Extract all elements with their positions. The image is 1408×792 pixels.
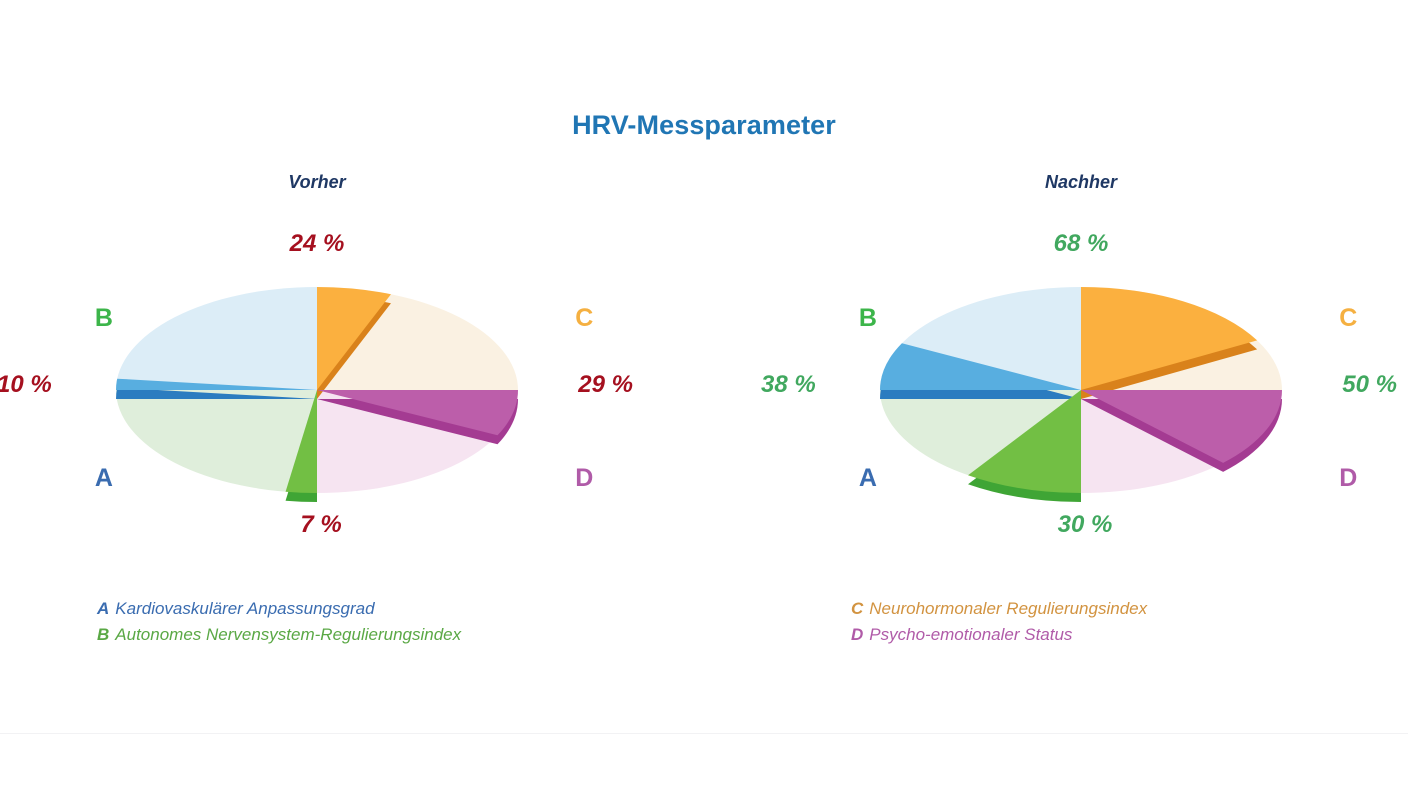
value-label-A: 30 % bbox=[1058, 511, 1113, 538]
legend-key-c: C bbox=[851, 599, 863, 618]
value-label-C: 24 % bbox=[289, 230, 345, 257]
quadrant-letter-A: A bbox=[95, 464, 113, 492]
quadrant-letter-C: C bbox=[575, 304, 593, 332]
legend-item-c: CNeurohormonaler Regulierungsindex bbox=[851, 596, 1147, 622]
legend-item-d: DPsycho-emotionaler Status bbox=[851, 622, 1147, 648]
legend-label-d: Psycho-emotionaler Status bbox=[869, 625, 1072, 644]
chart-panel-nachher: Nachher CDAB68 %50 %30 %38 % bbox=[801, 160, 1361, 580]
quadrant-letter-D: D bbox=[575, 464, 593, 492]
quadrant-letter-B: B bbox=[95, 304, 113, 332]
value-label-B: 38 % bbox=[761, 371, 816, 398]
value-label-A: 7 % bbox=[300, 511, 341, 538]
value-label-B: 10 % bbox=[0, 371, 52, 398]
chart-panel-vorher: Vorher CDAB24 %29 %7 %10 % bbox=[37, 160, 597, 580]
quadrant-letter-A: A bbox=[859, 464, 877, 492]
legend-key-b: B bbox=[97, 625, 109, 644]
footer-divider bbox=[0, 733, 1408, 734]
legend-key-a: A bbox=[97, 599, 109, 618]
quadrant-letter-B: B bbox=[859, 304, 877, 332]
legend-key-d: D bbox=[851, 625, 863, 644]
pie-chart-vorher: CDAB24 %29 %7 %10 % bbox=[37, 160, 597, 580]
value-label-D: 50 % bbox=[1342, 371, 1397, 398]
quadrant-letter-D: D bbox=[1339, 464, 1357, 492]
quadrant-background-A bbox=[116, 287, 317, 390]
legend-right: CNeurohormonaler Regulierungsindex DPsyc… bbox=[851, 596, 1147, 648]
value-label-C: 68 % bbox=[1054, 230, 1109, 257]
legend-left: AKardiovaskulärer Anpassungsgrad BAutono… bbox=[97, 596, 461, 648]
page-title: HRV-Messparameter bbox=[0, 110, 1408, 141]
legend-label-c: Neurohormonaler Regulierungsindex bbox=[869, 599, 1147, 618]
legend-label-a: Kardiovaskulärer Anpassungsgrad bbox=[115, 599, 374, 618]
quadrant-letter-C: C bbox=[1339, 304, 1357, 332]
value-label-D: 29 % bbox=[577, 371, 633, 398]
legend-label-b: Autonomes Nervensystem-Regulierungsindex bbox=[115, 625, 461, 644]
slide-root: HRV-Messparameter Vorher CDAB24 %29 %7 %… bbox=[0, 0, 1408, 792]
legend-item-b: BAutonomes Nervensystem-Regulierungsinde… bbox=[97, 622, 461, 648]
pie-chart-nachher: CDAB68 %50 %30 %38 % bbox=[801, 160, 1361, 580]
legend-item-a: AKardiovaskulärer Anpassungsgrad bbox=[97, 596, 461, 622]
quadrant-background-B bbox=[116, 390, 317, 493]
